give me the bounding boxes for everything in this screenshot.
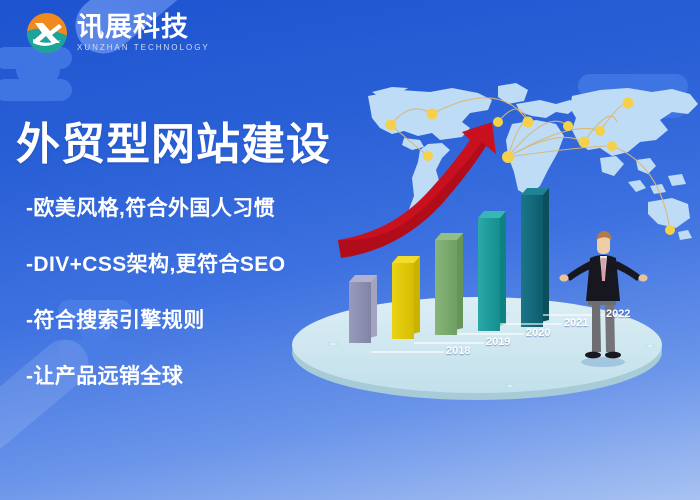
brand-name-cn: 讯展科技: [77, 14, 210, 41]
brand-logo[interactable]: 讯展科技 XUNZHAN TECHNOLOGY: [26, 12, 210, 54]
year-label-2019: 2019: [486, 336, 510, 348]
brand-name-en: XUNZHAN TECHNOLOGY: [77, 44, 210, 52]
list-item: -DIV+CSS架构,更符合SEO: [26, 248, 366, 278]
bar-2020: [435, 233, 463, 335]
bar-2021: [478, 211, 506, 331]
year-label-2020: 2020: [526, 327, 550, 339]
page-title: 外贸型网站建设: [16, 108, 331, 172]
xunzhan-bird-circle-logo: [26, 12, 68, 54]
feature-list: -欧美风格,符合外国人习惯 -DIV+CSS架构,更符合SEO -符合搜索引擎规…: [26, 192, 366, 416]
list-item: -让产品远销全球: [26, 360, 366, 390]
marketing-banner: 2018 2019 2020 2021 2022 讯展科技 XUNZHAN TE…: [0, 0, 700, 500]
year-label-2018: 2018: [446, 345, 470, 357]
bar-2019: [392, 256, 420, 339]
list-item: -欧美风格,符合外国人习惯: [26, 192, 366, 222]
year-label-2021: 2021: [564, 317, 588, 329]
year-label-2022: 2022: [606, 308, 630, 320]
list-item: -符合搜索引擎规则: [26, 304, 366, 334]
bar-2022: [521, 188, 549, 327]
